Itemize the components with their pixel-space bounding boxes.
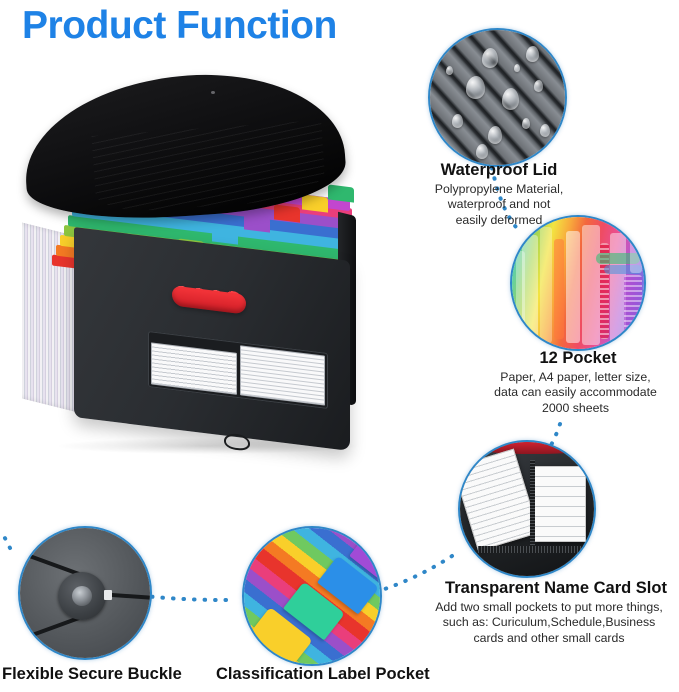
secure-buckle-heading: Flexible Secure Buckle xyxy=(2,664,202,684)
twelve-pocket-photo xyxy=(510,215,646,351)
twelve-pocket-description: Paper, A4 paper, letter size,data can ea… xyxy=(472,370,679,416)
name-card-slot-photo xyxy=(458,440,596,578)
elastic-cord-buckle-icon xyxy=(20,528,150,658)
secure-buckle-photo xyxy=(18,526,152,660)
classification-label-photo xyxy=(242,526,382,666)
rainbow-file-tabs-icon xyxy=(244,528,380,664)
waterproof-lid-heading: Waterproof Lid xyxy=(428,160,570,180)
lined-cards-icon xyxy=(460,442,594,576)
twelve-pocket-heading: 12 Pocket xyxy=(504,348,652,368)
infographic-canvas: Product Function xyxy=(0,0,679,692)
waterproof-lid-photo xyxy=(428,28,567,167)
water-droplets-icon xyxy=(430,30,565,165)
plastic-dividers-icon xyxy=(512,217,644,349)
name-card-slot-heading: Transparent Name Card Slot xyxy=(432,578,679,598)
classification-label-heading: Classification Label Pocket xyxy=(216,664,456,684)
name-card-slot-description: Add two small pockets to put more things… xyxy=(418,600,679,646)
